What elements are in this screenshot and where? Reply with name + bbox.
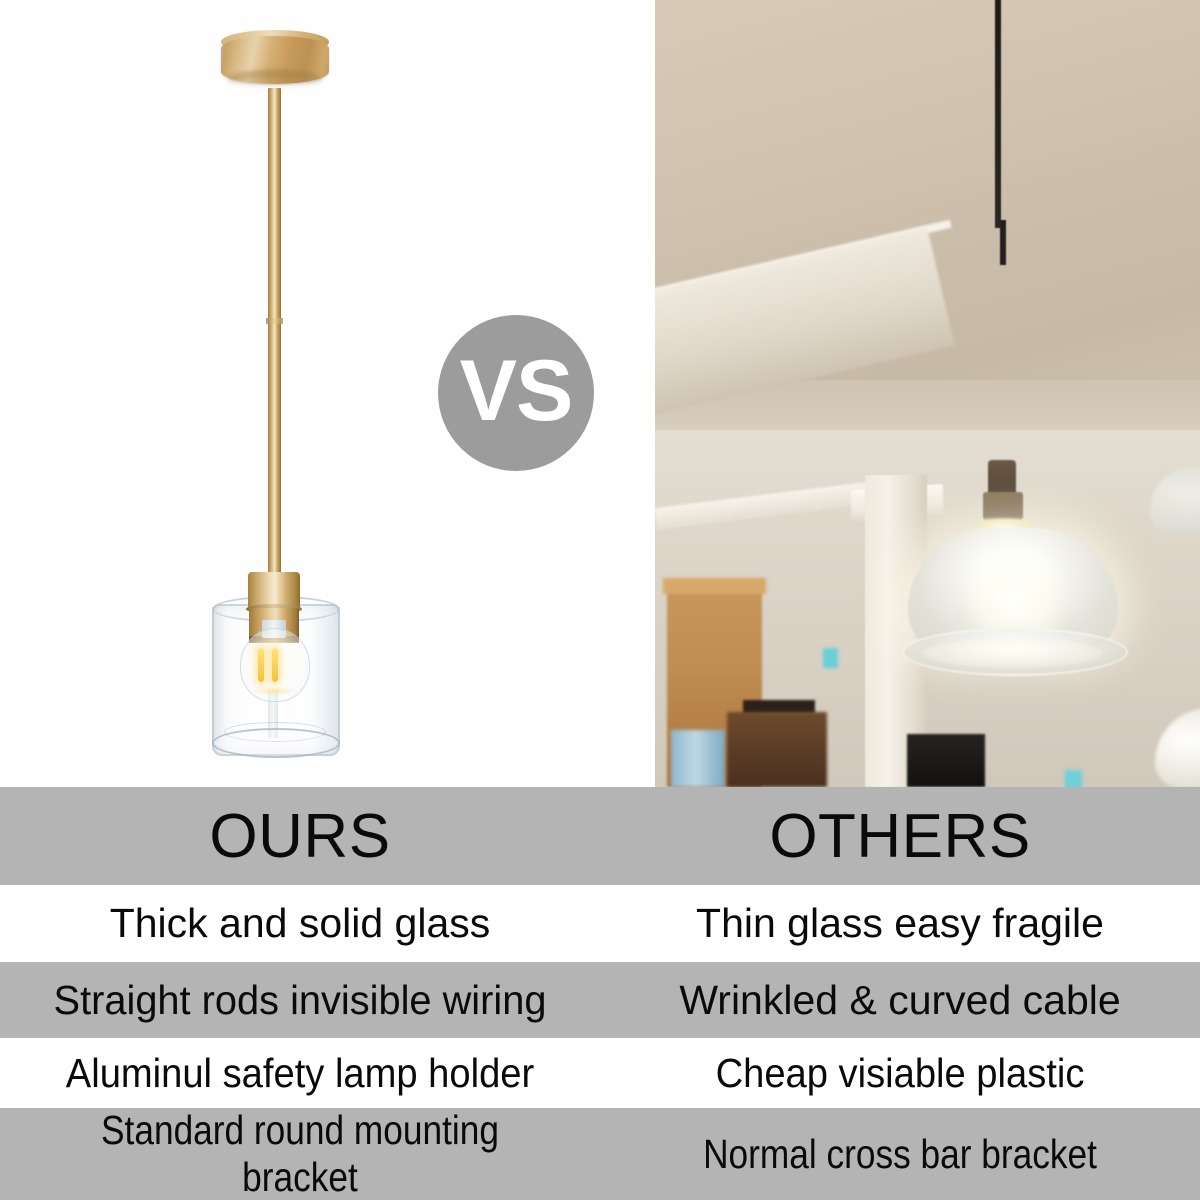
- teal-reflection-lower: [1065, 770, 1082, 787]
- tv-screen: [907, 734, 985, 787]
- others-lifestyle-photo: [655, 0, 1200, 787]
- lamp-holder-upper: [248, 572, 300, 608]
- cabinet-top-trim: [663, 578, 766, 594]
- pendant-socket-lower: [983, 492, 1023, 520]
- table-row: Aluminul safety lamp holder Cheap visiab…: [0, 1038, 1200, 1108]
- table-row: Straight rods invisible wiring Wrinkled …: [0, 962, 1200, 1038]
- filament-glow: [252, 686, 296, 696]
- ours-feature-3: Aluminul safety lamp holder: [21, 1038, 579, 1108]
- hanging-cord: [995, 0, 1001, 228]
- hanging-cord-lower: [1000, 220, 1006, 265]
- cart: [727, 712, 827, 787]
- comparison-infographic: VS: [0, 0, 1200, 1200]
- vs-label: VS: [460, 348, 573, 434]
- others-feature-4: Normal cross bar bracket: [642, 1108, 1158, 1200]
- shade-bottom-rim: [212, 728, 340, 758]
- ours-feature-2: Straight rods invisible wiring: [9, 962, 591, 1038]
- ours-feature-4: Standard round mounting bracket: [42, 1108, 558, 1200]
- comparison-table: OURS OTHERS Thick and solid glass Thin g…: [0, 787, 1200, 1200]
- filament-left: [258, 648, 264, 682]
- filament-right: [272, 648, 278, 682]
- table-row: Thick and solid glass Thin glass easy fr…: [0, 885, 1200, 962]
- vs-badge: VS: [438, 315, 594, 471]
- teal-reflection-upper: [823, 648, 838, 668]
- table-header-row: OURS OTHERS: [0, 787, 1200, 885]
- top-image-area: VS: [0, 0, 1200, 787]
- header-ours: OURS: [0, 787, 600, 885]
- rod-joint: [266, 318, 283, 324]
- brass-rod: [268, 88, 281, 578]
- others-feature-2: Wrinkled & curved cable: [600, 962, 1200, 1038]
- others-feature-3: Cheap visiable plastic: [621, 1038, 1179, 1108]
- pendant-dome-inner: [923, 638, 1103, 668]
- header-others: OTHERS: [600, 787, 1200, 885]
- table-row: Standard round mounting bracket Normal c…: [0, 1108, 1200, 1200]
- others-feature-1: Thin glass easy fragile: [600, 885, 1200, 962]
- bottles: [671, 730, 725, 787]
- ours-feature-1: Thick and solid glass: [0, 885, 600, 962]
